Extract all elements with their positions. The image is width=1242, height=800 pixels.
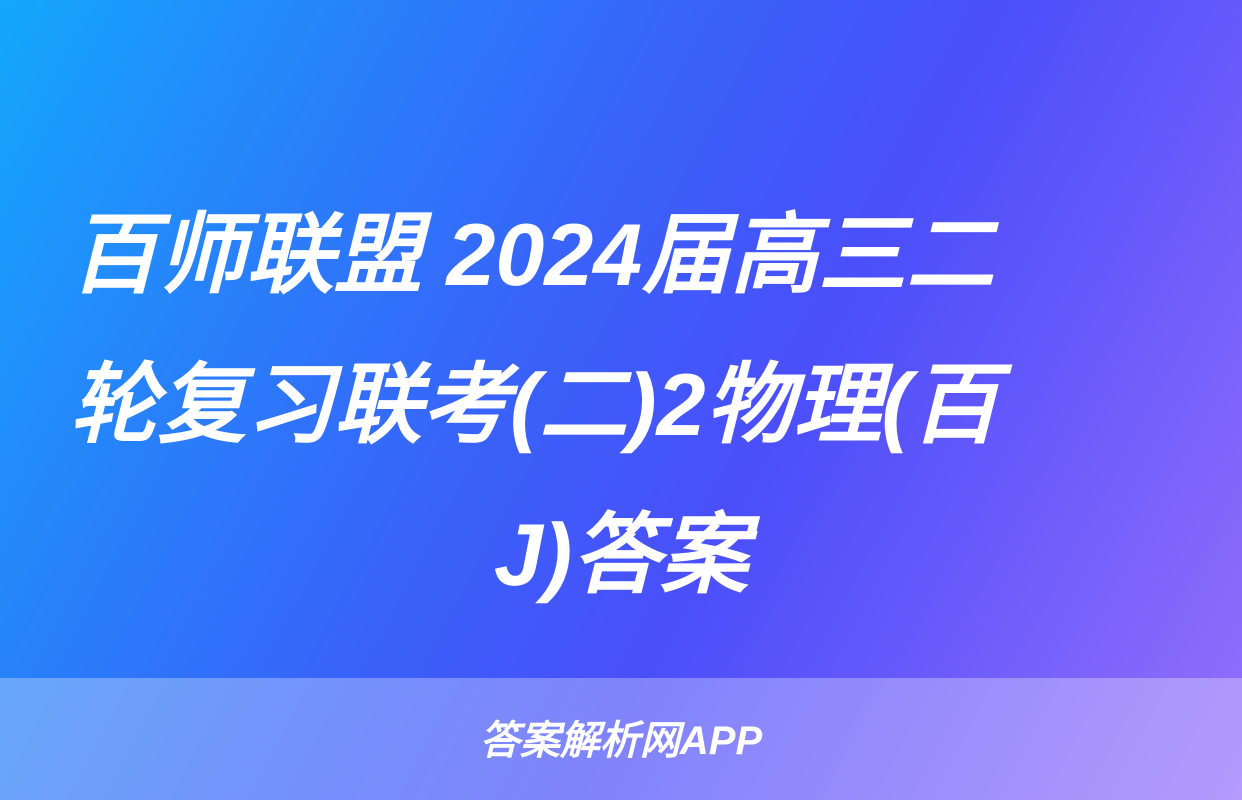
poster-container: 百师联盟 2024届高三二 轮复习联考(二)2物理(百 J)答案 答案解析网AP… xyxy=(0,0,1242,800)
app-watermark-label: 答案解析网APP xyxy=(480,721,762,761)
title-line-3: J)答案 xyxy=(70,480,1172,630)
title-line-2: 轮复习联考(二)2物理(百 xyxy=(70,330,1172,480)
title-line-1: 百师联盟 2024届高三二 xyxy=(70,180,1172,330)
page-title: 百师联盟 2024届高三二 轮复习联考(二)2物理(百 J)答案 xyxy=(0,180,1242,630)
footer-banner: 答案解析网APP xyxy=(0,678,1242,800)
